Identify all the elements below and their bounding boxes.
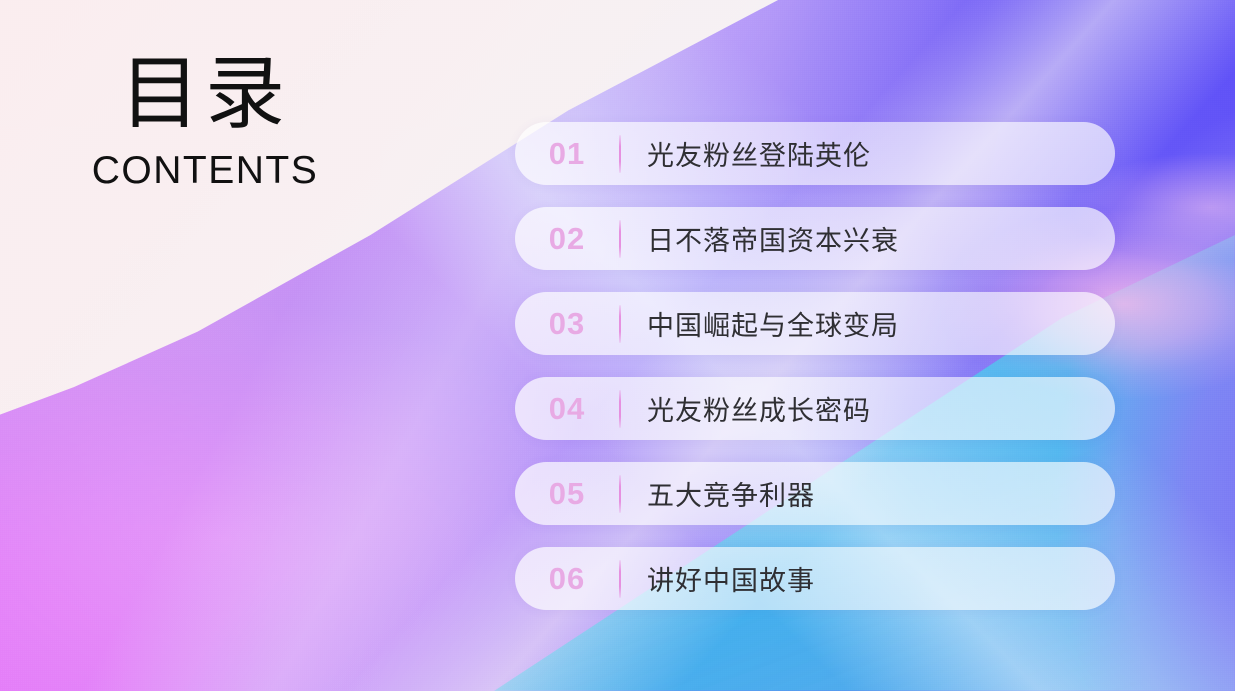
table-of-contents-list: 01 光友粉丝登陆英伦 02 日不落帝国资本兴衰 03 中国崛起与全球变局 04…	[515, 122, 1115, 610]
toc-item-label: 光友粉丝成长密码	[621, 389, 871, 428]
toc-item-label: 中国崛起与全球变局	[621, 304, 899, 343]
page-title-block: 目录 CONTENTS	[60, 52, 350, 193]
slide-canvas: 目录 CONTENTS 01 光友粉丝登陆英伦 02 日不落帝国资本兴衰 03 …	[0, 0, 1235, 691]
toc-item-number: 05	[515, 476, 619, 512]
toc-item-number: 01	[515, 136, 619, 172]
toc-item-label: 光友粉丝登陆英伦	[621, 134, 871, 173]
toc-item-06[interactable]: 06 讲好中国故事	[515, 547, 1115, 610]
toc-item-label: 日不落帝国资本兴衰	[621, 219, 899, 258]
toc-item-04[interactable]: 04 光友粉丝成长密码	[515, 377, 1115, 440]
toc-item-number: 02	[515, 221, 619, 257]
toc-item-number: 06	[515, 561, 619, 597]
toc-item-number: 04	[515, 391, 619, 427]
toc-item-label: 讲好中国故事	[621, 559, 815, 598]
toc-item-label: 五大竞争利器	[621, 474, 815, 513]
toc-item-number: 03	[515, 306, 619, 342]
toc-item-01[interactable]: 01 光友粉丝登陆英伦	[515, 122, 1115, 185]
toc-item-03[interactable]: 03 中国崛起与全球变局	[515, 292, 1115, 355]
page-title-english: CONTENTS	[60, 150, 350, 193]
toc-item-05[interactable]: 05 五大竞争利器	[515, 462, 1115, 525]
toc-item-02[interactable]: 02 日不落帝国资本兴衰	[515, 207, 1115, 270]
page-title-chinese: 目录	[60, 52, 350, 138]
